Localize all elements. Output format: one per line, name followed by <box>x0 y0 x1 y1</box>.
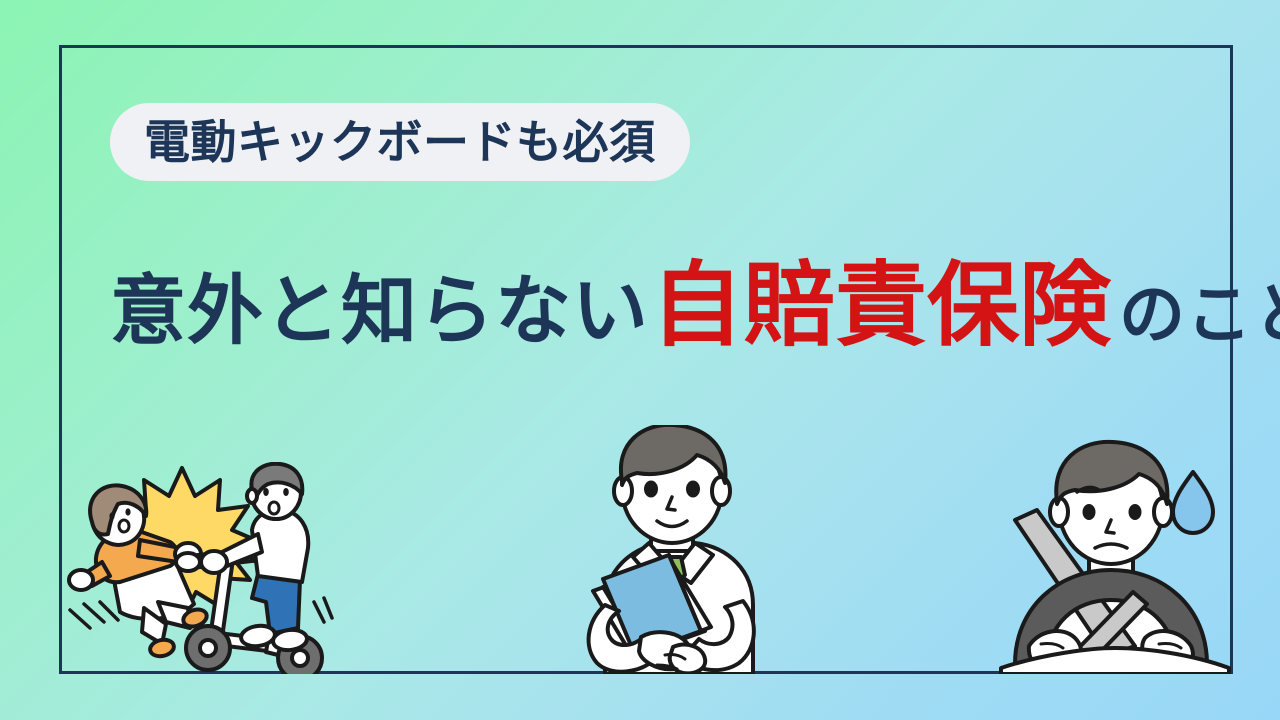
headline-segment-lead: 意外と知らない <box>110 274 649 350</box>
scooter-hub-rear <box>292 650 308 666</box>
advisor-eye-left <box>644 481 658 498</box>
badge-pill: 電動キックボードも必須 <box>110 103 690 181</box>
rider-eye-right <box>283 488 289 496</box>
rider-mouth <box>269 502 279 514</box>
motion-lines-left <box>70 602 118 628</box>
motion-lines-right <box>314 598 332 622</box>
scooter-grip-left <box>176 553 200 571</box>
scooter-accident-icon <box>62 462 342 674</box>
pedestrian-mouth <box>119 520 129 532</box>
worried-driver-icon <box>995 432 1233 674</box>
rider-shoe-back <box>272 628 308 651</box>
headline-segment-tail: のこと <box>1119 281 1280 347</box>
headline-segment-accent: 自賠責保険 <box>651 260 1111 352</box>
pedestrian-eye-left <box>109 512 114 519</box>
advisor-ear-right <box>712 477 730 505</box>
pedestrian-hand-back <box>69 570 93 590</box>
rider-ear <box>247 489 257 503</box>
advisor-eye-right <box>686 481 700 498</box>
rider-hand <box>201 551 227 573</box>
badge-label: 電動キックボードも必須 <box>144 119 656 165</box>
banner-canvas: 電動キックボードも必須 意外と知らない 自賠責保険 のこと <box>0 0 1280 720</box>
driver-eye-left <box>1083 504 1096 520</box>
sweat-drop-icon <box>1173 472 1213 533</box>
pedestrian-eye-right <box>125 508 130 515</box>
pedestrian-shoe-back <box>149 638 176 659</box>
page-title: 意外と知らない 自賠責保険 のこと <box>110 260 1280 360</box>
scooter-hub-front <box>200 640 216 656</box>
insurance-advisor-icon <box>545 425 795 674</box>
rider-eye-left <box>263 488 269 496</box>
illustration-worried-driver <box>995 432 1233 674</box>
driver-eye-right <box>1129 504 1142 520</box>
illustration-insurance-advisor <box>545 425 795 674</box>
driver-ear-right <box>1154 498 1172 526</box>
illustration-scooter-accident <box>62 462 342 674</box>
